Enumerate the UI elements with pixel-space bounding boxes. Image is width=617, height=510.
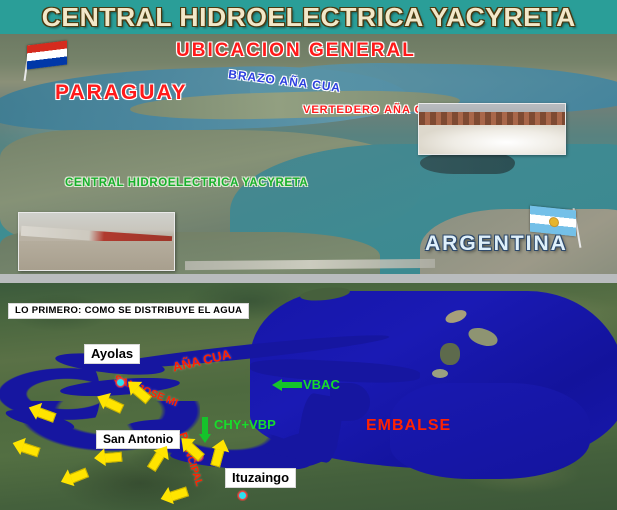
lower-panel-caption: LO PRIMERO: COMO SE DISTRIBUYE EL AGUA [8,303,249,319]
paraguay-flag [18,43,74,83]
panel-divider [0,274,617,283]
label-paraguay: PARAGUAY [55,81,188,105]
lower-water-distribution-panel: LO PRIMERO: COMO SE DISTRIBUYE EL AGUA A… [0,283,617,510]
label-vbac: VBAC [303,377,340,392]
spillway-photo [418,103,566,155]
argentina-flag-sun-icon [549,217,559,228]
vbac-arrow-icon [272,379,302,391]
poster-root: CENTRAL HIDROELECTRICA YACYRETA UBICACIO… [0,0,617,510]
label-central-hidroelectrica: CENTRAL HIDROELECTRICA YACYRETA [65,177,308,189]
page-title: CENTRAL HIDROELECTRICA YACYRETA [41,2,575,33]
label-ituzaingo: Ituzaingo [225,468,296,488]
upper-panel-heading: UBICACION GENERAL [176,40,416,62]
label-embalse: EMBALSE [366,417,451,435]
label-chy-vbp: CHY+VBP [214,417,276,432]
label-argentina: ARGENTINA [425,232,568,256]
paraguay-flag-cloth [27,41,67,70]
upper-location-map-panel: UBICACION GENERAL PARAGUAY BRAZO AÑA CUA… [0,34,617,274]
powerplant-water [19,241,174,270]
powerplant-dam-photo [18,212,175,271]
reservoir-island-4 [432,369,448,378]
flow-arrow-7 [93,447,120,467]
label-ayolas: Ayolas [84,344,140,364]
marker-ituzaingo [238,491,247,500]
poster-title-bar: CENTRAL HIDROELECTRICA YACYRETA [0,0,617,34]
spillway-whitewater [419,125,565,154]
reservoir-island-3 [440,343,460,365]
chy-vbp-arrow-icon [199,417,211,443]
upper-urban-area [420,152,515,174]
spillway-gates [419,112,565,125]
